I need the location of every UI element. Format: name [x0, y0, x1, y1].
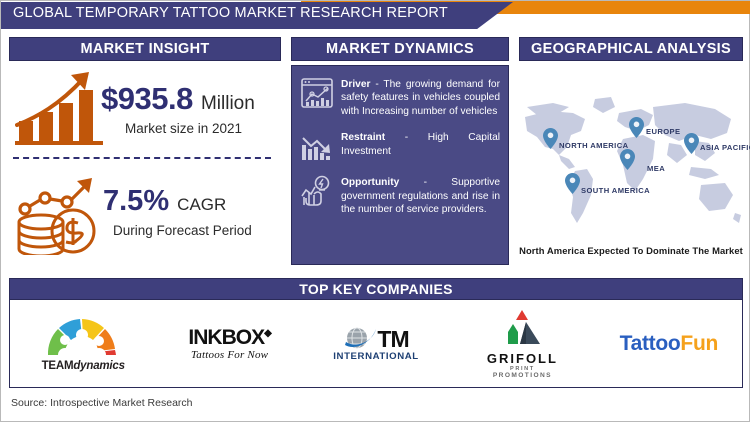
top-key-companies-heading: TOP KEY COMPANIES — [9, 278, 743, 300]
map-pin-north-america — [543, 128, 558, 149]
geo-label-mea: MEA — [647, 164, 665, 173]
company-sub2: PROMOTIONS — [487, 372, 558, 379]
dynamics-item-dash: - — [385, 132, 428, 143]
source-note: Source: Introspective Market Research — [11, 397, 193, 409]
team-dynamics-icon — [40, 315, 126, 355]
company-tagline: Tattoos For Now — [188, 349, 270, 361]
cagr-caption: During Forecast Period — [113, 223, 252, 238]
dynamics-item-text: Opportunity - Supportive government regu… — [341, 174, 500, 216]
company-logo-tm-international: TM INTERNATIONAL — [303, 300, 449, 387]
dynamics-item-label: Restraint — [341, 132, 385, 143]
dynamics-item-label: Opportunity — [341, 177, 399, 188]
dynamics-item-text: Restraint - High Capital Investment — [341, 129, 500, 163]
page-title: GLOBAL TEMPORARY TATTOO MARKET RESEARCH … — [13, 5, 448, 21]
geo-caption: North America Expected To Dominate The M… — [519, 245, 743, 256]
company-logo-grifoll: GRIFOLL PRINT PROMOTIONS — [449, 300, 595, 387]
coin-stack-trend-icon — [15, 169, 107, 255]
grifoll-mark-icon — [496, 308, 548, 346]
market-size-number: $935.8 — [101, 81, 193, 116]
geo-label-south-america: SOUTH AMERICA — [581, 186, 650, 195]
company-name: INKBOX◆ — [188, 326, 270, 350]
inkbox-wordmark: INKBOX — [188, 326, 264, 349]
market-dynamics-heading: MARKET DYNAMICS — [291, 37, 509, 61]
company-subtitle: INTERNATIONAL — [333, 351, 418, 362]
geo-label-europe: EUROPE — [646, 127, 680, 136]
geo-label-north-america: NORTH AMERICA — [559, 141, 628, 150]
team-part1: TEAM — [42, 360, 74, 372]
globe-swoosh-icon — [343, 325, 377, 353]
geographical-analysis-heading: GEOGRAPHICAL ANALYSIS — [519, 37, 743, 61]
declining-bar-chart-icon — [300, 129, 334, 163]
dynamics-item-restraint: Restraint - High Capital Investment — [300, 129, 500, 163]
top-key-companies-body: TEAMdynamics INKBOX◆ Tattoos For Now — [9, 300, 743, 388]
map-pin-europe — [629, 117, 644, 138]
map-pin-south-america — [565, 173, 580, 194]
market-size-unit: Million — [201, 93, 255, 114]
market-size-caption: Market size in 2021 — [125, 121, 242, 136]
market-insight-heading: MARKET INSIGHT — [9, 37, 281, 61]
market-insight-body: $935.8 Million Market size in 2021 — [9, 65, 281, 265]
idea-hand-bulb-icon — [300, 174, 334, 208]
tattoofun-part1: Tattoo — [620, 332, 681, 355]
team-part2: dynamics — [73, 360, 124, 372]
analytics-dashboard-icon — [300, 76, 334, 110]
geographical-analysis-body: NORTH AMERICA EUROPE ASIA PACIFIC SOUTH … — [519, 65, 743, 265]
company-logo-inkbox: INKBOX◆ Tattoos For Now — [156, 300, 302, 387]
dynamics-item-label: Driver — [341, 79, 370, 90]
bar-chart-growth-arrow-icon — [15, 65, 107, 145]
company-name: TattooFun — [620, 332, 718, 356]
company-name: TEAMdynamics — [40, 360, 126, 372]
cagr-number: 7.5% — [103, 185, 169, 217]
cagr-value: 7.5% CAGR — [103, 185, 226, 218]
insight-divider — [13, 157, 271, 159]
dynamics-item-dash: - — [370, 79, 383, 90]
infographic-canvas: GLOBAL TEMPORARY TATTOO MARKET RESEARCH … — [0, 0, 750, 422]
tattoofun-part2: Fun — [680, 332, 718, 355]
company-name: GRIFOLL — [487, 351, 558, 366]
dynamics-item-opportunity: Opportunity - Supportive government regu… — [300, 174, 500, 216]
inkbox-mark: ◆ — [264, 328, 271, 339]
geo-label-asia-pacific: ASIA PACIFIC — [700, 143, 750, 152]
market-dynamics-body: Driver - The growing demand for safety f… — [291, 65, 509, 265]
market-size-value: $935.8 Million — [101, 81, 255, 117]
company-logo-team-dynamics: TEAMdynamics — [10, 300, 156, 387]
map-pin-asia-pacific — [684, 133, 699, 154]
header: GLOBAL TEMPORARY TATTOO MARKET RESEARCH … — [1, 1, 750, 29]
cagr-label: CAGR — [177, 195, 226, 214]
dynamics-item-driver: Driver - The growing demand for safety f… — [300, 76, 500, 118]
company-name: TM — [377, 326, 408, 353]
world-map: NORTH AMERICA EUROPE ASIA PACIFIC SOUTH … — [519, 89, 743, 239]
company-logo-tattoofun: TattooFun — [596, 300, 742, 387]
map-pin-mea — [620, 149, 635, 170]
dynamics-item-text: Driver - The growing demand for safety f… — [341, 76, 500, 118]
dynamics-item-dash: - — [399, 177, 451, 188]
